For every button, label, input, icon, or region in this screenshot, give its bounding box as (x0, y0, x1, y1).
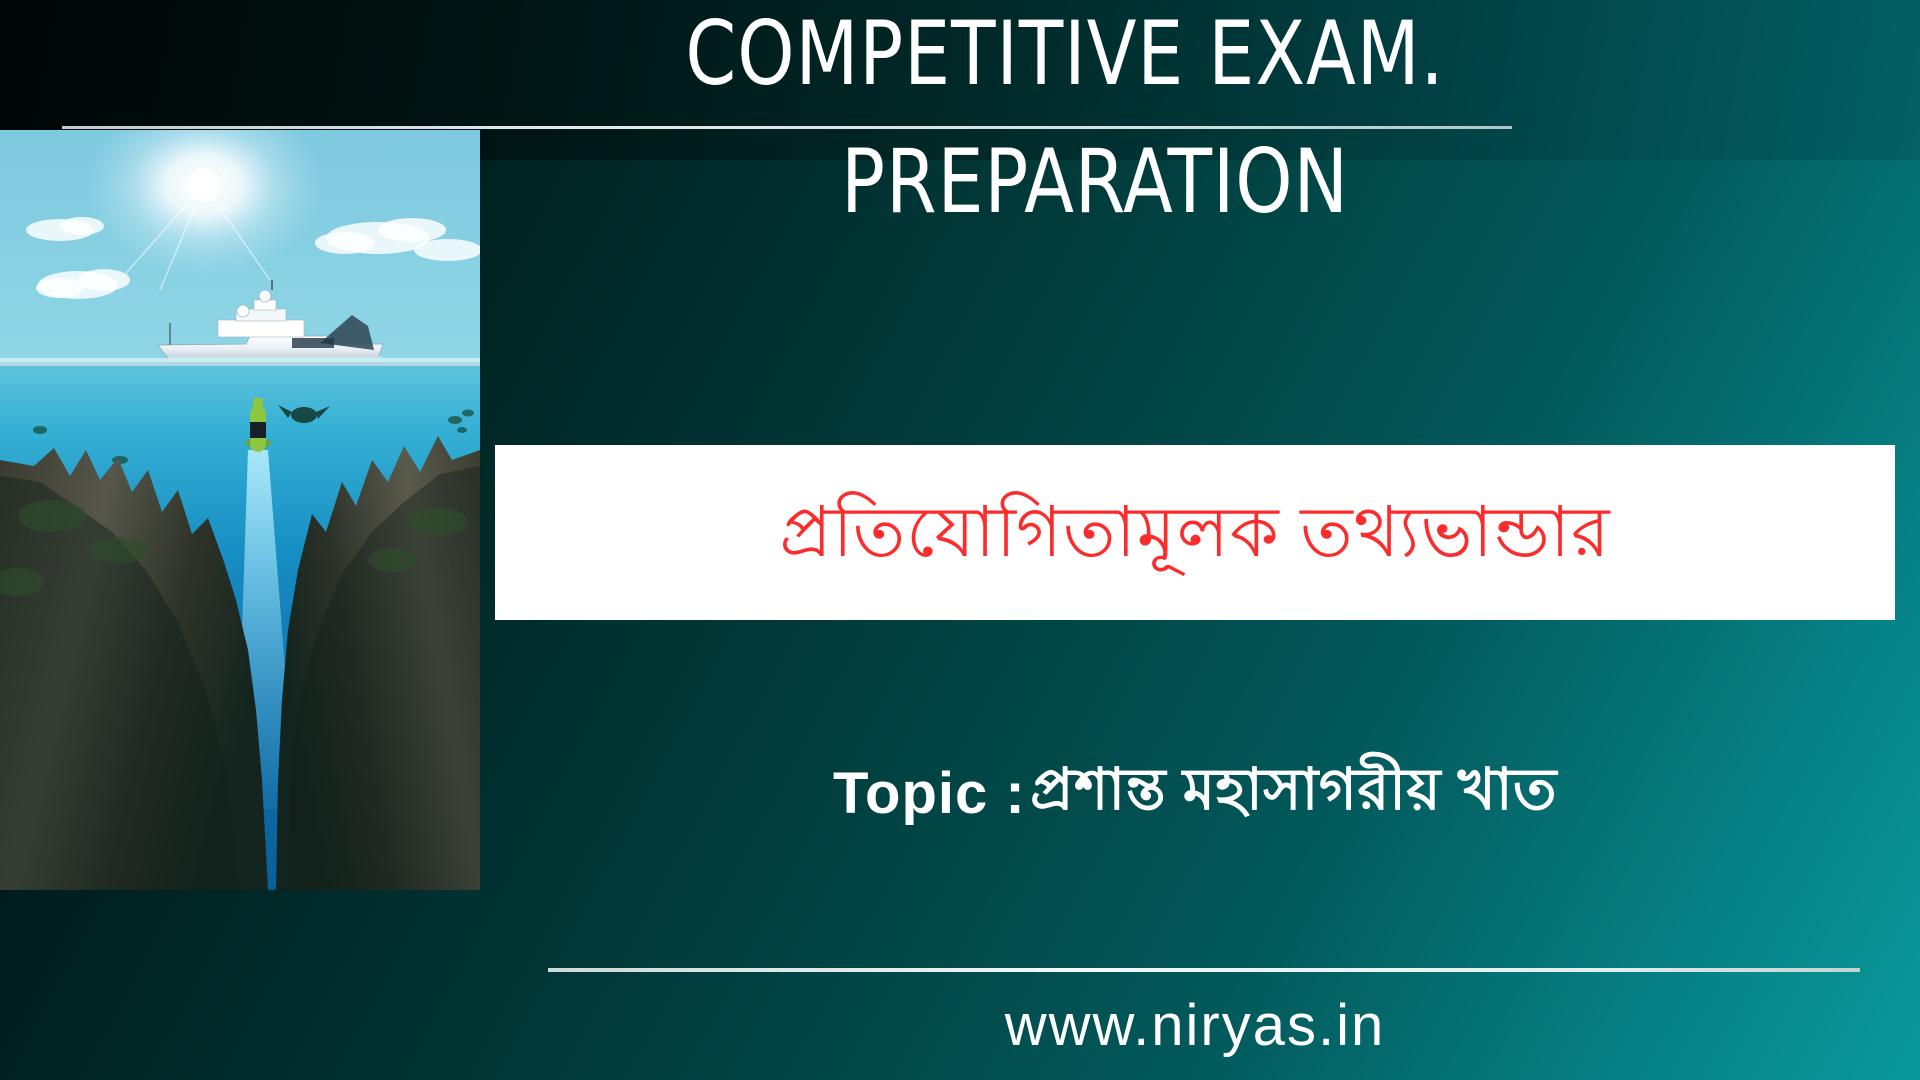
topic-row: Topic : প্রশান্ত মহাসাগরীয় খাত (495, 745, 1895, 842)
ocean-scene-svg (0, 130, 480, 890)
header-divider (62, 126, 1512, 129)
banner: প্রতিযোগিতামূলক তথ্যভান্ডার (495, 445, 1895, 620)
page-title-line-2: PREPARATION (538, 130, 1651, 234)
footer-website-url: www.niryas.in (495, 992, 1895, 1059)
topic-value: প্রশান্ত মহাসাগরীয় খাত (1030, 757, 1557, 822)
footer-divider (548, 968, 1860, 972)
page-title-line-1: COMPETITIVE EXAM. (481, 2, 1649, 106)
ocean-trench-illustration (0, 130, 480, 890)
slide-root: COMPETITIVE EXAM. PREPARATION (0, 0, 1920, 1080)
banner-title: প্রতিযোগিতামূলক তথ্যভান্ডার (779, 492, 1610, 573)
topic-label: Topic : (833, 761, 1026, 826)
